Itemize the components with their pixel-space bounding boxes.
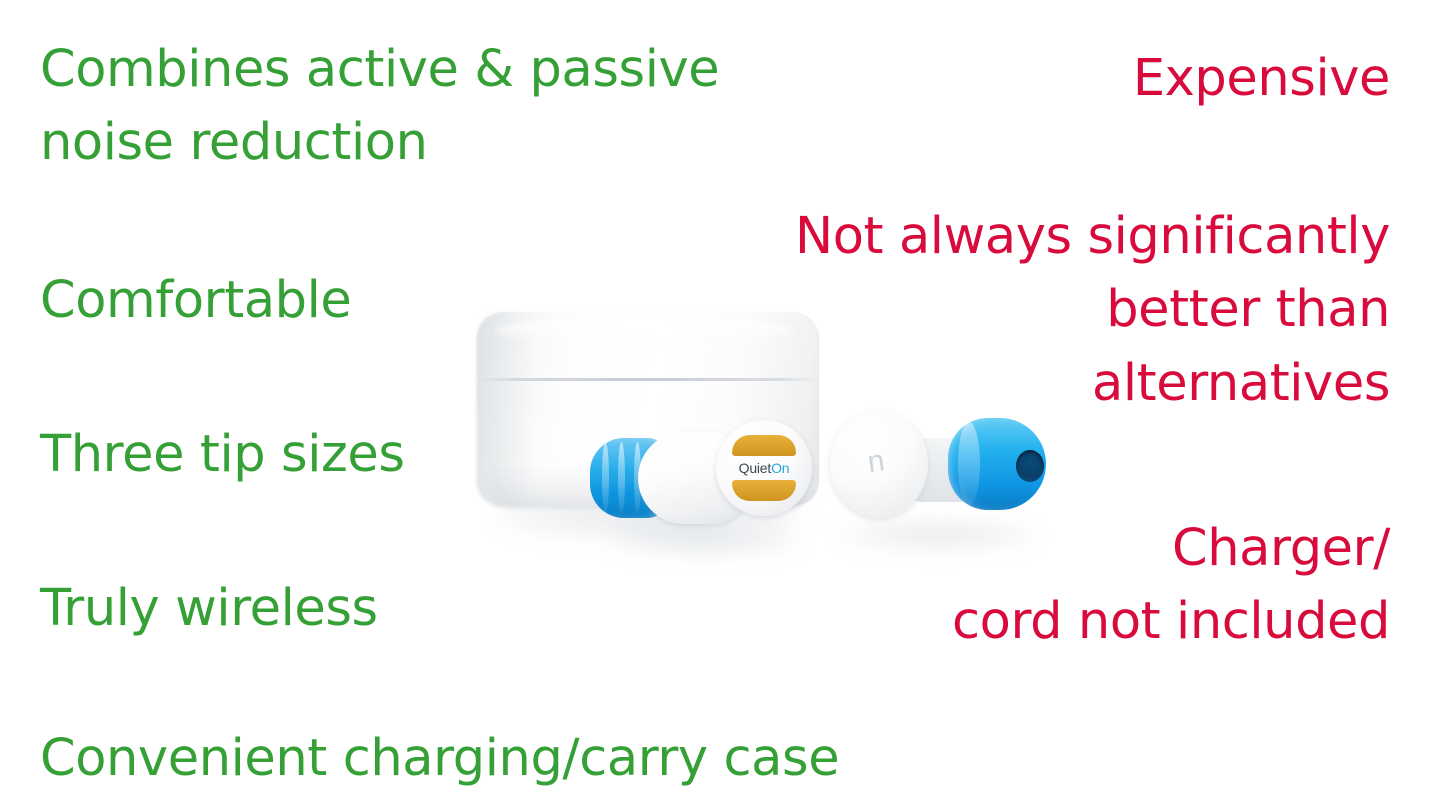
left-earbud: QuietOn bbox=[590, 418, 810, 538]
slide-canvas: Combines active & passive noise reductio… bbox=[0, 0, 1440, 810]
quieton-logo: QuietOn bbox=[716, 460, 812, 476]
left-earbud-faceplate: QuietOn bbox=[716, 420, 812, 516]
pro-item-noise-reduction: Combines active & passive noise reductio… bbox=[40, 33, 719, 180]
quieton-logo-on: On bbox=[771, 460, 789, 476]
pro-item-three-tip-sizes: Three tip sizes bbox=[40, 418, 405, 491]
pro-item-truly-wireless: Truly wireless bbox=[40, 572, 378, 645]
case-lid-seam bbox=[477, 378, 819, 381]
quieton-logo-quiet: Quiet bbox=[739, 460, 771, 476]
right-earbud-embossed-logo: n bbox=[866, 444, 904, 482]
pro-item-comfortable: Comfortable bbox=[40, 264, 351, 337]
right-earbud-tip-ring bbox=[958, 422, 980, 506]
con-item-expensive: Expensive bbox=[1133, 42, 1390, 115]
right-earbud-sound-bore bbox=[1016, 450, 1044, 482]
pro-item-charging-carry-case: Convenient charging/carry case bbox=[40, 722, 839, 795]
faceplate-gold-accent-top bbox=[732, 435, 796, 456]
case-lid-highlight bbox=[495, 318, 795, 344]
product-photo-quieton-earbuds: QuietOn n bbox=[400, 280, 1080, 580]
faceplate-gold-accent-bottom bbox=[732, 480, 796, 501]
right-earbud: n bbox=[830, 408, 1040, 538]
